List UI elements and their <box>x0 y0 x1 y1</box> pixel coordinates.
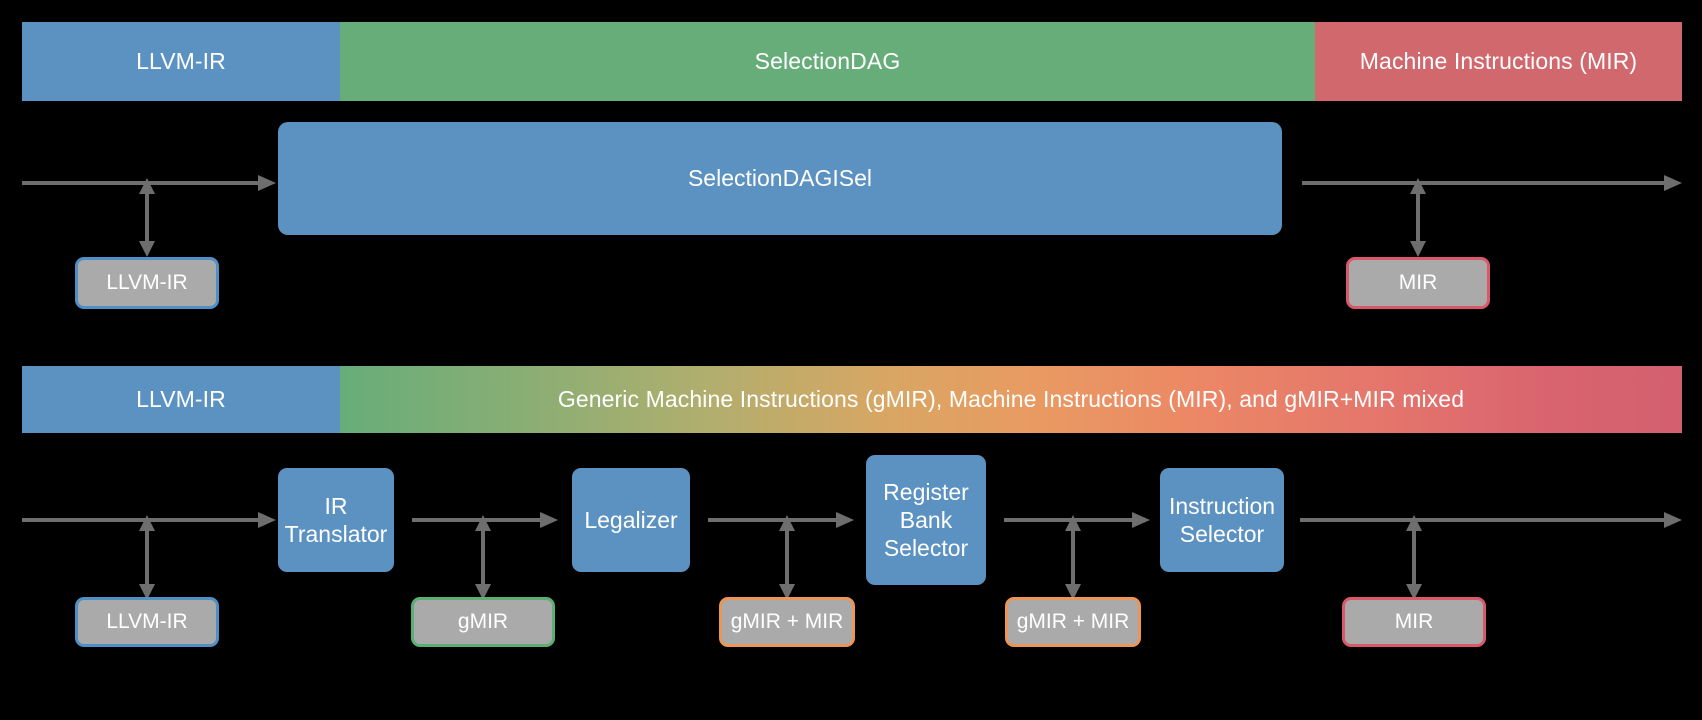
data-box-gmir-plus-mir-2[interactable]: gMIR + MIR <box>1005 597 1141 647</box>
data-box-gmir[interactable]: gMIR <box>411 597 555 647</box>
data-box-llvm-ir-top[interactable]: LLVM-IR <box>75 257 219 309</box>
pass-box-instruction-selector[interactable]: Instruction Selector <box>1160 468 1284 572</box>
banner-segment-llvm-ir: LLVM-IR <box>22 22 340 101</box>
data-box-gmir-plus-mir-1[interactable]: gMIR + MIR <box>719 597 855 647</box>
banner-segment-machine-instructions: Machine Instructions (MIR) <box>1315 22 1682 101</box>
arrow-in-ir-translator <box>0 497 290 547</box>
banner2-segment-llvm-ir: LLVM-IR <box>22 366 340 433</box>
arrow-mir-top-bidirectional <box>1391 176 1471 266</box>
pass-label-line1: Legalizer <box>584 506 677 534</box>
globalisel-banner: LLVM-IR Generic Machine Instructions (gM… <box>22 366 1682 433</box>
diagram-canvas: LLVM-IR SelectionDAG Machine Instruction… <box>0 0 1702 720</box>
arrow-out-selectiondagisel <box>1298 160 1702 210</box>
data-box-llvm-ir-bottom[interactable]: LLVM-IR <box>75 597 219 647</box>
banner-segment-selectiondag: SelectionDAG <box>340 22 1315 101</box>
arrow-regbank-selector-to-instruction-selector <box>996 497 1171 547</box>
pass-box-ir-translator[interactable]: IR Translator <box>278 468 394 572</box>
pass-label-line2: Selector <box>1169 520 1275 548</box>
data-box-mir-top[interactable]: MIR <box>1346 257 1490 309</box>
arrow-ir-translator-to-legalizer <box>404 497 579 547</box>
arrow-legalizer-to-regbank-selector <box>700 497 875 547</box>
arrow-out-instruction-selector <box>1292 497 1702 547</box>
selectiondag-banner: LLVM-IR SelectionDAG Machine Instruction… <box>22 22 1682 101</box>
pass-box-register-bank-selector[interactable]: Register Bank Selector <box>866 455 986 585</box>
arrow-llvm-ir-bottom-bidirectional <box>120 513 200 608</box>
arrow-mir-bottom-bidirectional <box>1387 513 1467 608</box>
pass-label-line1: Register <box>883 478 969 506</box>
banner2-segment-mixed-gmir-mir: Generic Machine Instructions (gMIR), Mac… <box>340 366 1682 433</box>
pass-label-line3: Selector <box>883 534 969 562</box>
pass-label-line1: IR <box>285 492 388 520</box>
arrow-gmir-bidirectional <box>456 513 536 608</box>
pass-label-line2: Translator <box>285 520 388 548</box>
arrow-gmir-mir-1-bidirectional <box>760 513 840 608</box>
pass-box-selectiondagisel[interactable]: SelectionDAGISel <box>278 122 1282 235</box>
arrow-gmir-mir-2-bidirectional <box>1046 513 1126 608</box>
pass-box-legalizer[interactable]: Legalizer <box>572 468 690 572</box>
arrow-in-selectiondagisel <box>0 160 290 210</box>
pass-label-line2: Bank <box>883 506 969 534</box>
pass-label-line1: Instruction <box>1169 492 1275 520</box>
data-box-mir-bottom[interactable]: MIR <box>1342 597 1486 647</box>
arrow-llvm-ir-top-bidirectional <box>120 176 200 266</box>
